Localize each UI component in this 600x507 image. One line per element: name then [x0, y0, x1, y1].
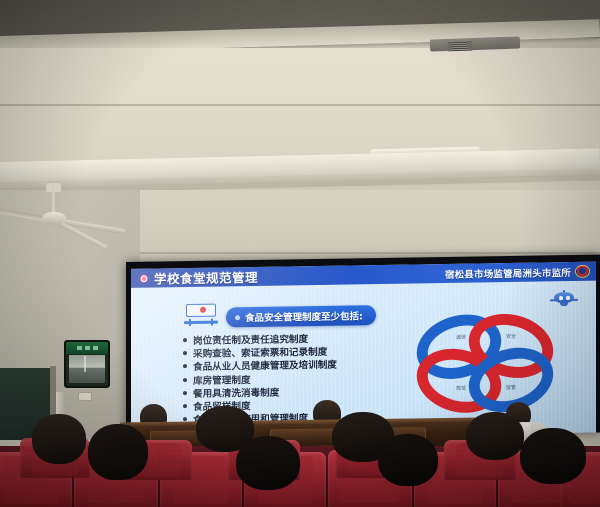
mascot-eye	[559, 296, 563, 300]
fan-rod	[52, 186, 55, 214]
exit-glyph-icon	[77, 346, 82, 350]
slide-title-bar: 学校食堂规范管理 宿松县市场监管局洲头市监所	[131, 262, 596, 288]
audience-head	[88, 424, 148, 480]
slide-subtitle-pill: 食品安全管理制度至少包括:	[226, 305, 376, 327]
classroom-illustration-icon	[184, 304, 218, 327]
exit-sign-header	[66, 342, 108, 354]
mascot-eye	[566, 296, 570, 300]
mascot-arm	[572, 299, 578, 301]
subtitle-bullet-icon	[235, 315, 240, 320]
bullet-dot-icon	[183, 338, 187, 342]
bullet-dot-icon	[183, 351, 187, 355]
logo-label: 安全	[506, 333, 516, 340]
four-interlocking-rings-logo: 诚信 安全 规范 监管	[410, 306, 560, 418]
slide-bullet-icon	[140, 274, 148, 282]
emergency-exit-display	[64, 340, 110, 388]
bullet-dot-icon	[183, 364, 187, 368]
vent-grill-icon	[448, 42, 472, 52]
logo-label: 诚信	[456, 334, 466, 341]
wall-socket	[78, 392, 92, 401]
mascot-arm	[550, 299, 556, 301]
bullet-label: 食品从业人员健康管理及培训制度	[193, 357, 337, 373]
slide-title: 学校食堂规范管理	[154, 267, 258, 288]
exit-glyph-icon	[85, 346, 90, 350]
conference-room-photo: 学校食堂规范管理 宿松县市场监管局洲头市监所	[0, 0, 600, 507]
audience-head	[466, 412, 524, 460]
exit-sign-image	[69, 355, 105, 383]
ceiling-seam	[0, 104, 600, 106]
bullet-dot-icon	[183, 391, 187, 395]
audience-head	[236, 436, 300, 490]
logo-label: 规范	[456, 385, 466, 392]
illustration-desk	[184, 321, 218, 325]
audience-head	[32, 414, 86, 464]
slide-subtitle: 食品安全管理制度至少包括:	[245, 308, 363, 324]
audience-head	[378, 434, 438, 486]
slide-header-right: 宿松县市场监管局洲头市监所	[445, 264, 590, 280]
exit-glyph-icon	[93, 346, 98, 350]
mascot-body	[560, 302, 568, 306]
audience-head	[520, 428, 586, 484]
ceiling-fan	[42, 212, 66, 225]
bullet-dot-icon	[183, 378, 187, 382]
bullet-dot-icon	[183, 404, 187, 408]
logo-label: 监管	[506, 384, 516, 391]
slide-org-name: 宿松县市场监管局洲头市监所	[445, 265, 571, 281]
robot-mascot-icon	[552, 290, 576, 307]
market-supervision-emblem-icon	[575, 265, 590, 278]
